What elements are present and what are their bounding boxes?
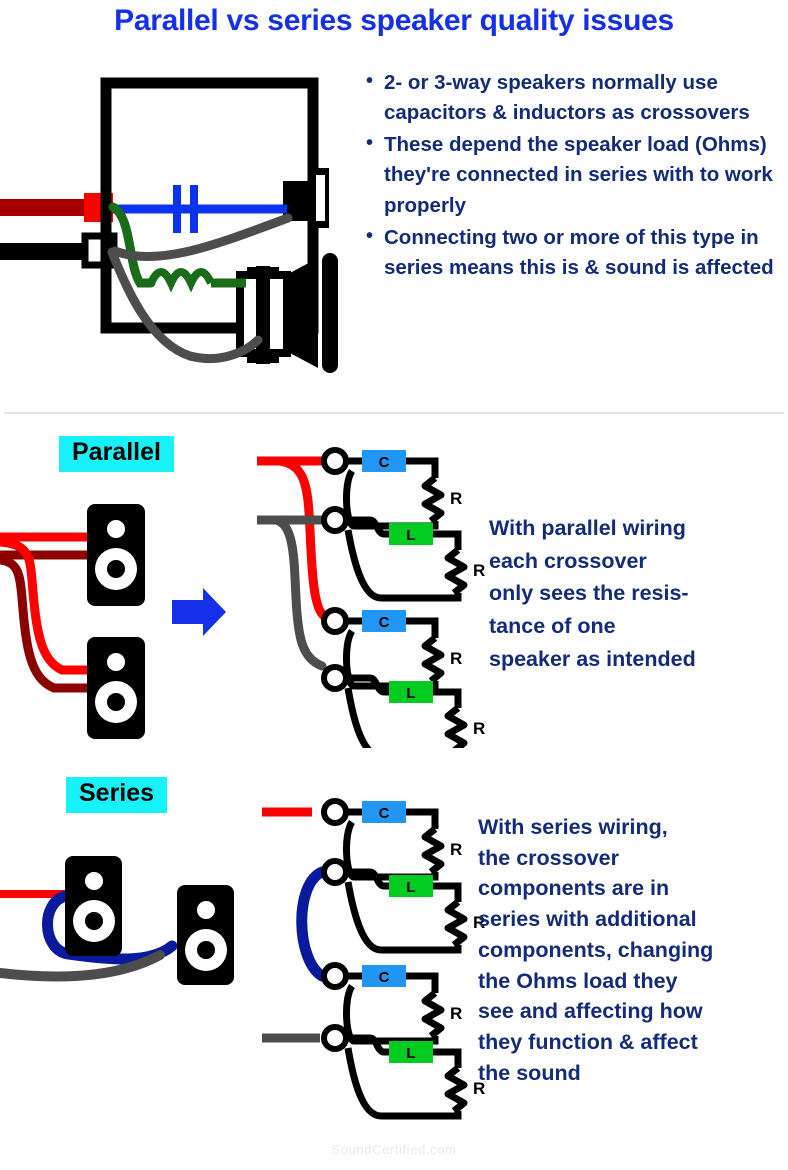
tweeter-icon (107, 520, 125, 538)
red-input-wire (0, 199, 95, 216)
series-schematic-jumper (302, 872, 322, 976)
resistor-label-7: R (450, 1004, 462, 1023)
sbranch3-lead-out (405, 976, 435, 993)
branch4-lead-out (432, 692, 458, 708)
bullet-item-2: • These depend the speaker load (Ohms) t… (362, 130, 780, 220)
branch1-lead-out (405, 461, 435, 478)
bullet-list: • 2- or 3-way speakers normally use capa… (362, 68, 780, 285)
bullet-text-2: These depend the speaker load (Ohms) the… (384, 133, 773, 216)
section-label-parallel: Parallel (59, 436, 174, 472)
bullet-item-3: • Connecting two or more of this type in… (362, 223, 780, 283)
series-line-4: series with additional (478, 904, 784, 935)
inductor-label-2: L (406, 685, 415, 702)
branch4-resistor-zigzag (448, 708, 464, 748)
series-line-8: they function & affect (478, 1027, 784, 1058)
capacitor-label-4: C (379, 969, 390, 986)
woofer-dustcap-icon (107, 560, 125, 578)
resistor-label-5: R (450, 840, 462, 859)
capacitor-label-1: C (379, 454, 390, 471)
terminal-node-3 (324, 610, 346, 632)
inductor-label-1: L (406, 527, 415, 544)
series-line-7: see and affecting how (478, 996, 784, 1027)
terminal-node-4 (324, 667, 346, 689)
speaker-icon-1 (87, 504, 145, 606)
sbranch4-lead-out (432, 1052, 458, 1068)
woofer-surround (322, 253, 338, 373)
capacitor-plate-right (190, 185, 198, 233)
parallel-line-5: speaker as intended (489, 643, 784, 676)
series-line-6: the Ohms load they (478, 966, 784, 997)
woofer-dustcap-icon (107, 693, 125, 711)
tweeter-return-wire (115, 218, 288, 257)
parallel-line-2: each crossover (489, 545, 784, 578)
woofer-cone (290, 258, 318, 368)
section-divider (4, 412, 784, 414)
capacitor-label-2: C (379, 614, 390, 631)
tweeter-icon (107, 653, 125, 671)
parallel-line-3: only sees the resis- (489, 577, 784, 610)
sbranch3-resistor-zigzag (425, 993, 441, 1036)
parallel-line-4: tance of one (489, 610, 784, 643)
tweeter-icon (197, 901, 215, 919)
watermark: SoundCertified.com (0, 1142, 788, 1157)
right-arrow-icon (172, 588, 226, 636)
bullet-text-1: 2- or 3-way speakers normally use capaci… (384, 71, 750, 124)
inductor-coil (151, 272, 211, 283)
branch2-resistor-zigzag (448, 550, 464, 593)
speaker-icon-4 (177, 885, 234, 985)
inductor-label-3: L (406, 879, 415, 896)
bullet-marker-icon: • (366, 129, 373, 158)
resistor-label-2: R (473, 561, 485, 580)
series-line-9: the sound (478, 1058, 784, 1089)
bullet-text-3: Connecting two or more of this type in s… (384, 226, 774, 279)
speaker-enclosure-diagram (0, 68, 360, 413)
series-terminal-node-1 (324, 801, 346, 823)
speaker-icon-2 (87, 637, 145, 739)
branch1-resistor-zigzag (425, 478, 441, 521)
sbranch3-return (346, 986, 435, 1041)
series-line-3: components are in (478, 873, 784, 904)
capacitor-label-3: C (379, 805, 390, 822)
sbranch4-resistor-zigzag (448, 1068, 464, 1111)
woofer-dustcap-icon (85, 912, 103, 930)
bullet-item-1: • 2- or 3-way speakers normally use capa… (362, 68, 780, 128)
parallel-line-1: With parallel wiring (489, 512, 784, 545)
inductor-label-4: L (406, 1045, 415, 1062)
infographic-page: Parallel vs series speaker quality issue… (0, 0, 788, 1170)
sbranch2-resistor-zigzag (448, 902, 464, 945)
resistor-label-4: R (473, 719, 485, 738)
series-terminal-node-2 (324, 861, 346, 883)
series-terminal-node-3 (324, 965, 346, 987)
sbranch2-lead-out (432, 886, 458, 902)
series-speakers-diagram (0, 840, 260, 1090)
section-label-series: Series (66, 777, 167, 813)
bullet-marker-icon: • (366, 222, 373, 251)
resistor-label-3: R (450, 649, 462, 668)
page-title: Parallel vs series speaker quality issue… (0, 4, 788, 38)
series-line-1: With series wiring, (478, 812, 784, 843)
series-crossover-schematic: C R L R C R L R (250, 790, 500, 1130)
black-input-wire (0, 243, 88, 260)
woofer-dustcap-icon (197, 941, 215, 959)
sbranch1-resistor-zigzag (425, 829, 441, 872)
parallel-description: With parallel wiring each crossover only… (489, 512, 784, 675)
branch3-lead-out (405, 621, 435, 638)
parallel-speakers-diagram (0, 490, 250, 800)
woofer-core (256, 266, 270, 364)
sbranch1-lead-out (405, 812, 435, 829)
resistor-label-1: R (450, 489, 462, 508)
parallel-crossover-schematic: C R L R C R L R (250, 438, 500, 748)
capacitor-plate-left (173, 185, 181, 233)
tweeter-icon (85, 872, 103, 890)
speaker-icon-3 (65, 856, 122, 956)
terminal-node-1 (324, 450, 346, 472)
branch2-lead-out (432, 534, 458, 550)
bullet-marker-icon: • (366, 67, 373, 96)
series-terminal-node-4 (324, 1027, 346, 1049)
terminal-node-2 (324, 509, 346, 531)
series-line-5: components, changing (478, 935, 784, 966)
branch3-resistor-zigzag (425, 638, 441, 681)
tweeter-cone (316, 175, 325, 221)
series-description: With series wiring, the crossover compon… (478, 812, 784, 1089)
series-line-2: the crossover (478, 843, 784, 874)
